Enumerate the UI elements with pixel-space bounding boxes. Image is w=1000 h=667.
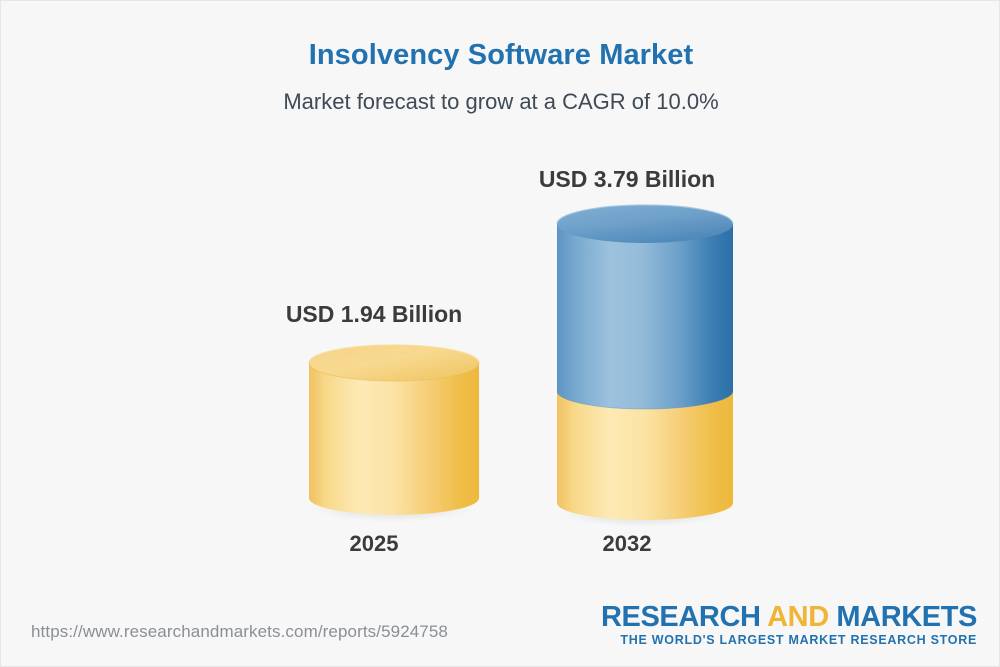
bar-category-label-2025: 2025 (269, 531, 479, 557)
report-url[interactable]: https://www.researchandmarkets.com/repor… (31, 622, 448, 642)
bar-value-label-2025: USD 1.94 Billion (269, 301, 479, 328)
bar-value-label-2032: USD 3.79 Billion (521, 166, 733, 193)
bar-group-2032: USD 3.79 Billion (521, 156, 733, 551)
research-and-markets-logo[interactable]: RESEARCH AND MARKETS THE WORLD'S LARGEST… (601, 602, 977, 647)
logo-tagline: THE WORLD'S LARGEST MARKET RESEARCH STOR… (601, 633, 977, 647)
logo-wordmark: RESEARCH AND MARKETS (601, 602, 977, 632)
logo-markets-text: MARKETS (829, 601, 977, 633)
bar-cylinder-2032 (537, 201, 733, 531)
logo-and-text: AND (767, 601, 829, 633)
bar-group-2025: USD 1.94 Billion (269, 291, 479, 551)
logo-research-text: RESEARCH (601, 601, 767, 633)
infographic-canvas: Insolvency Software Market Market foreca… (0, 0, 1000, 667)
bar-cylinder-2025 (289, 337, 479, 527)
bar-category-label-2032: 2032 (521, 531, 733, 557)
chart-plot-area: USD 1.94 Billion (1, 1, 1000, 601)
